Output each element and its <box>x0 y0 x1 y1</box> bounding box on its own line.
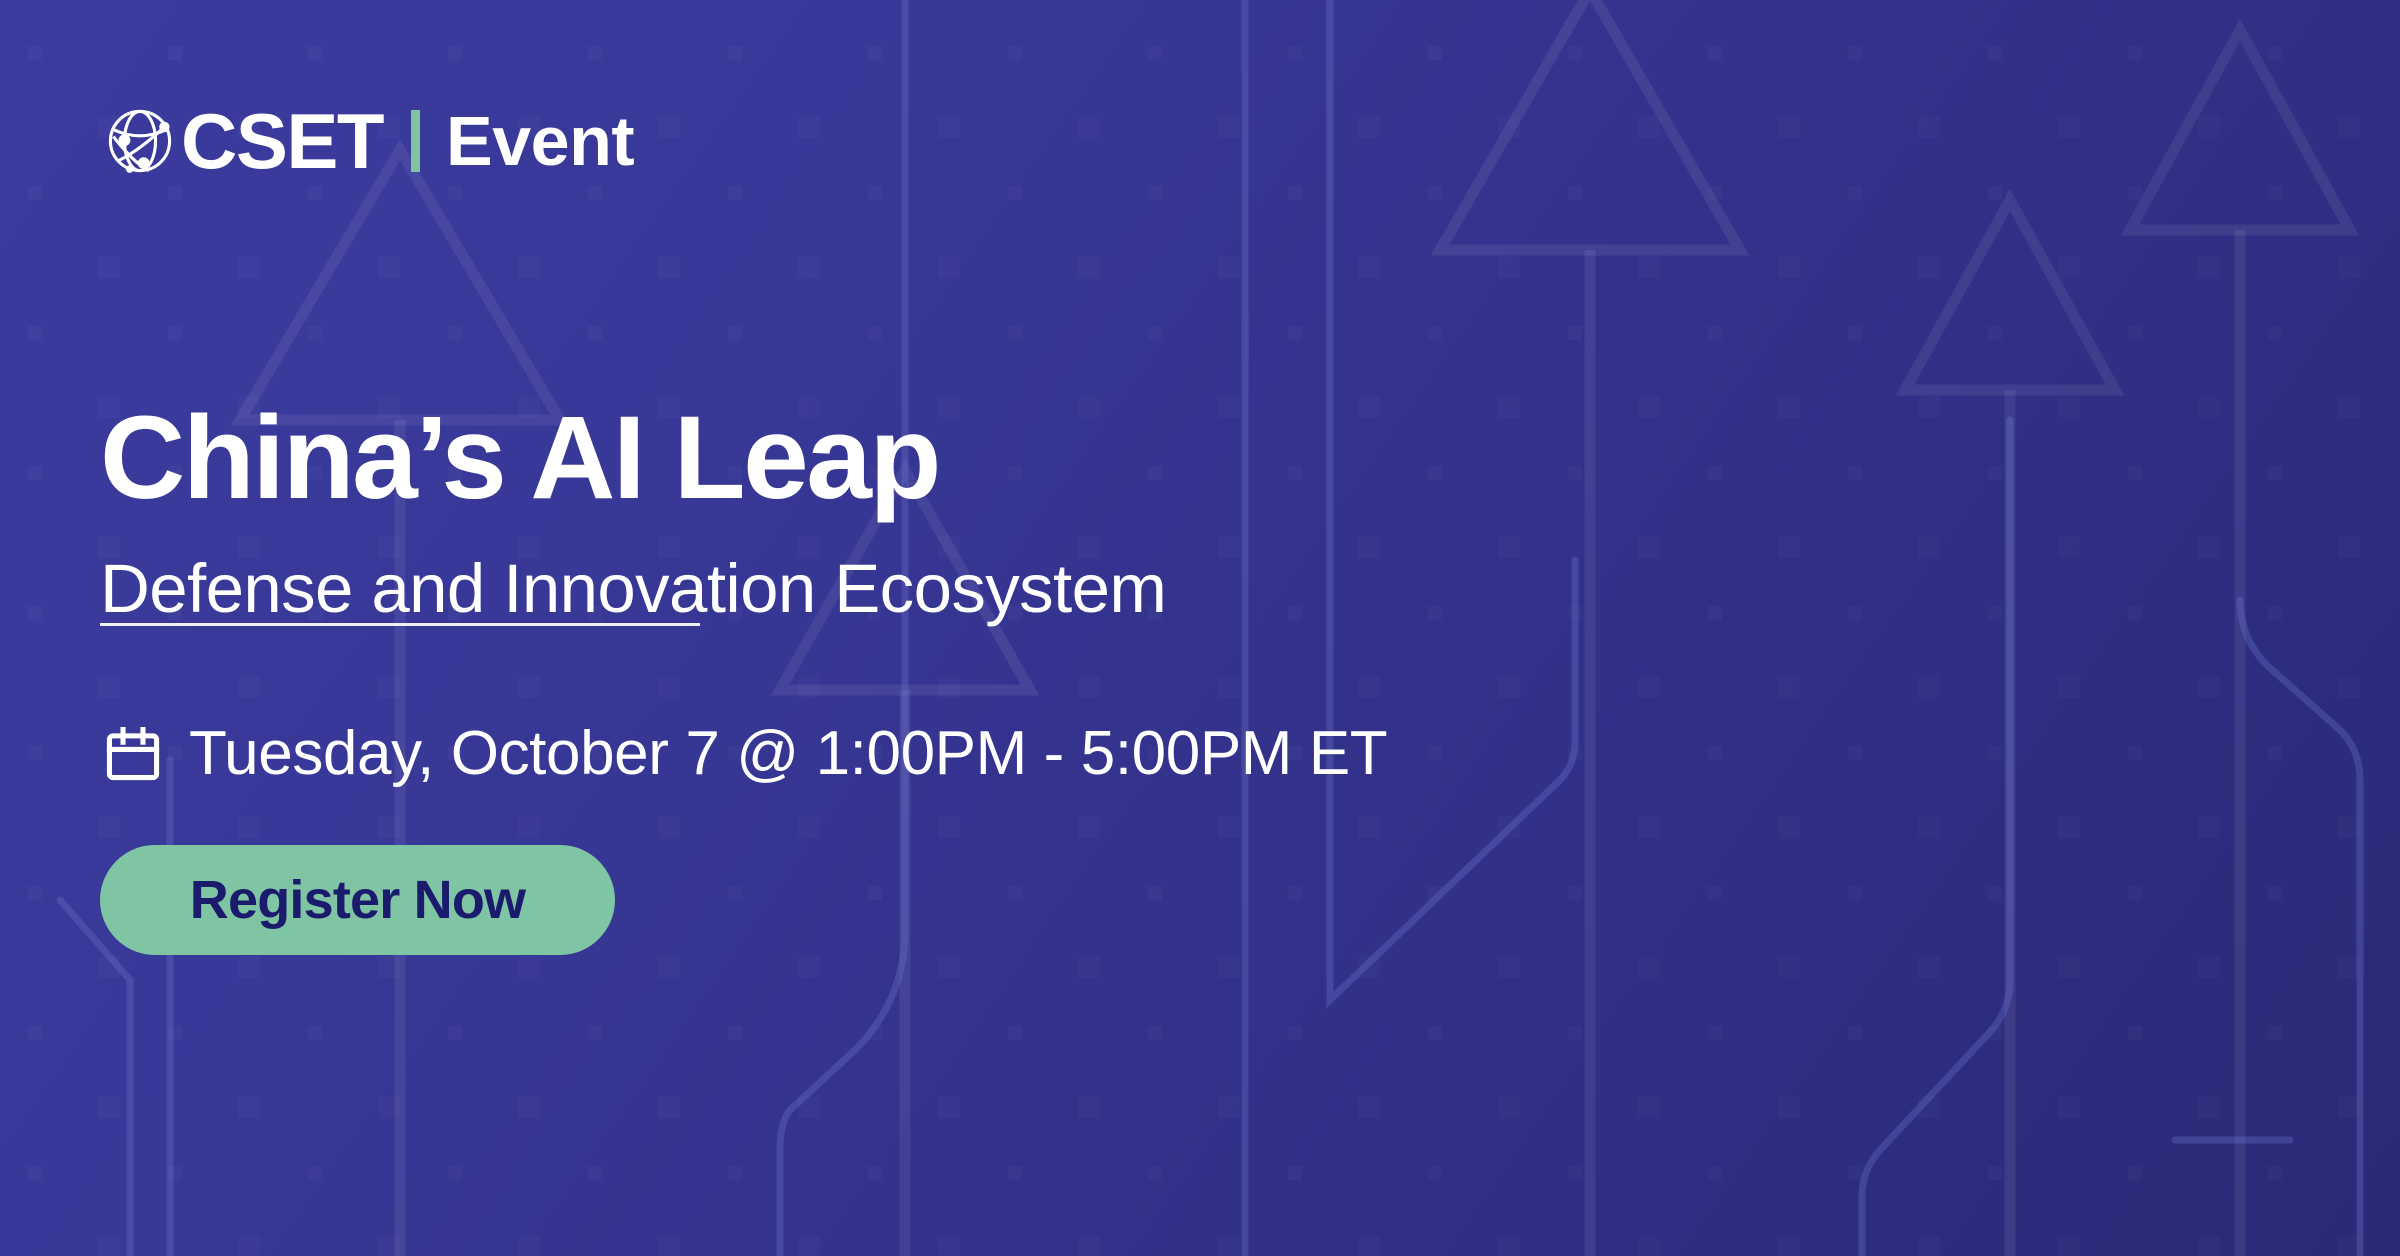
event-label: Event <box>446 106 634 176</box>
page-subtitle: Defense and Innovation Ecosystem <box>100 551 1166 627</box>
event-banner: CSET Event China’s AI Leap Defense and I… <box>0 0 2400 1256</box>
event-date-text: Tuesday, October 7 @ 1:00PM - 5:00PM ET <box>189 723 1387 785</box>
cset-wordmark: CSET <box>181 102 383 180</box>
divider-rule <box>100 623 700 626</box>
banner-content: CSET Event China’s AI Leap Defense and I… <box>0 0 2400 1256</box>
register-now-button[interactable]: Register Now <box>100 845 615 955</box>
calendar-icon <box>104 725 162 783</box>
logo-divider <box>411 110 420 172</box>
page-title: China’s AI Leap <box>100 397 939 521</box>
brand-logo-row[interactable]: CSET Event <box>103 95 634 187</box>
globe-network-icon <box>103 104 177 178</box>
event-date-row: Tuesday, October 7 @ 1:00PM - 5:00PM ET <box>104 715 1387 793</box>
